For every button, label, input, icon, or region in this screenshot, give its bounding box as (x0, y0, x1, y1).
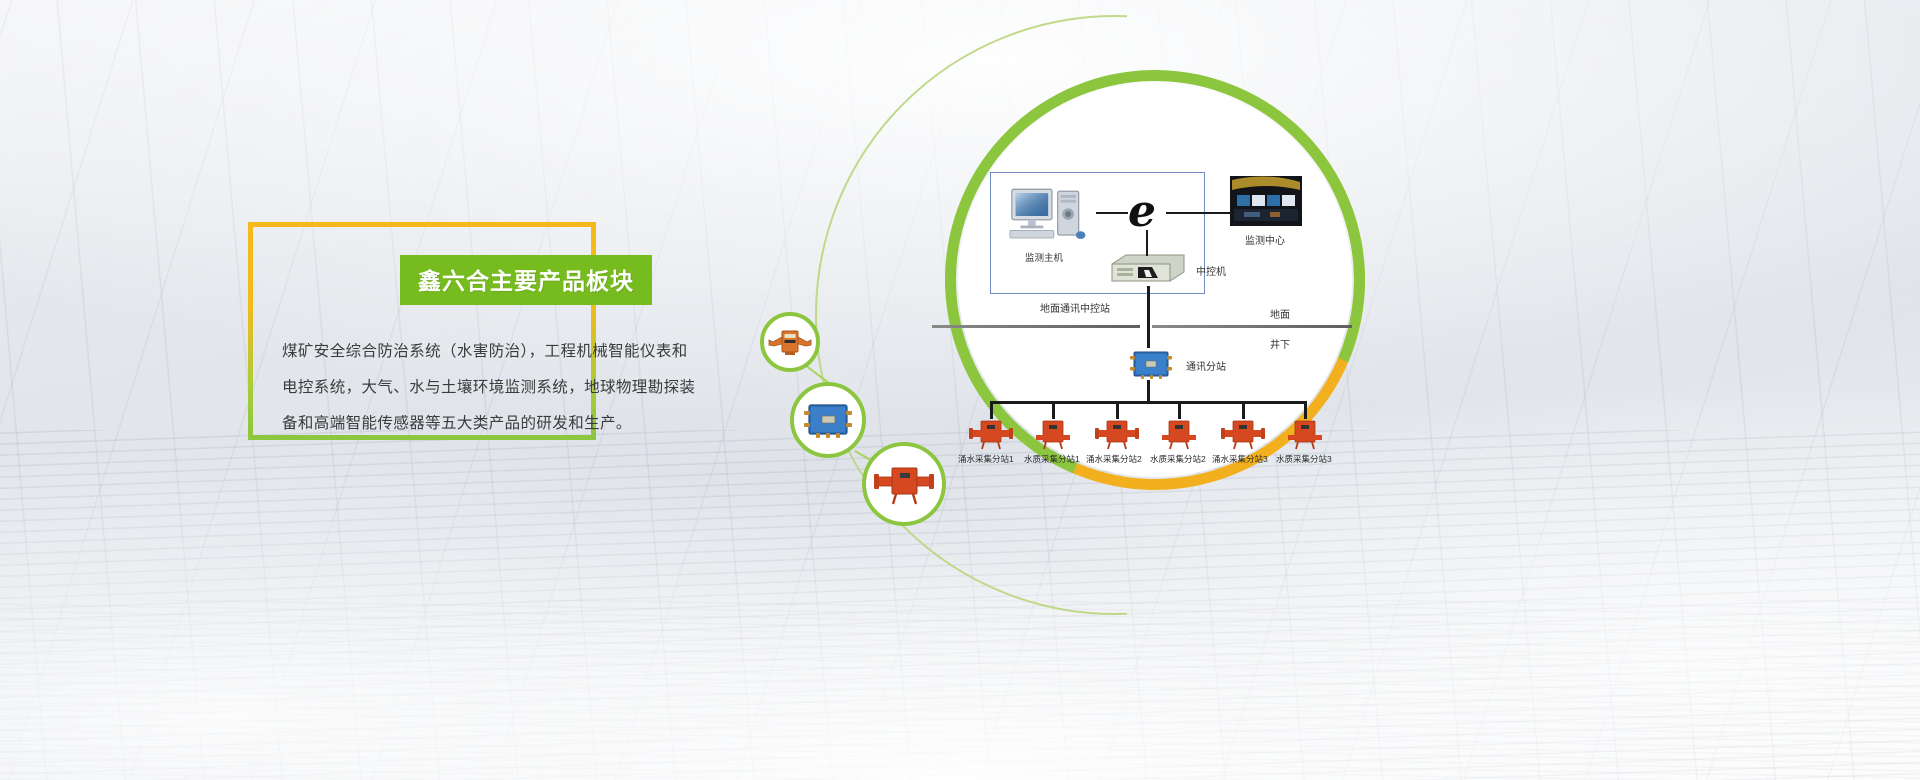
product-bubble-orange-sensor[interactable] (760, 312, 820, 372)
description-line-2: 电控系统，大气、水与土壤环境监测系统，地球物理勘探装 (282, 370, 712, 406)
collection-station-icon-1 (968, 418, 1014, 450)
collection-station-icon-3 (1094, 418, 1140, 450)
wire-host-to-internet (1096, 212, 1128, 214)
label-surface: 地面 (1270, 306, 1290, 321)
description-line-3: 备和高端智能传感器等五大类产品的研发和生产。 (282, 406, 712, 442)
label-controller: 中控机 (1196, 263, 1226, 278)
label-monitoring-host: 监测主机 (1025, 250, 1063, 264)
background-horizon-lines-fine (0, 600, 1920, 780)
wire-drop-3 (1116, 401, 1119, 419)
station-label-1: 涌水采集分站1 (958, 453, 1014, 465)
orange-sensor-device-icon (767, 327, 813, 357)
description-text: 煤矿安全综合防治系统（水害防治），工程机械智能仪表和 电控系统，大气、水与土壤环… (282, 334, 712, 442)
system-diagram: 监测主机 e 中控机 监测中心 (900, 150, 1400, 490)
wire-bus-horizontal (990, 401, 1306, 404)
collection-station-icon-6 (1282, 418, 1328, 450)
wire-drop-4 (1178, 401, 1181, 419)
page-title: 鑫六合主要产品板块 (400, 255, 652, 305)
collection-station-icon-2 (1030, 418, 1076, 450)
label-surface-control-station: 地面通讯中控站 (1040, 300, 1110, 315)
wire-internet-to-center (1166, 212, 1232, 214)
monitoring-center-icon (1230, 176, 1302, 226)
label-monitoring-center: 监测中心 (1245, 232, 1285, 247)
description-line-1: 煤矿安全综合防治系统（水害防治），工程机械智能仪表和 (282, 334, 712, 370)
ground-line-left (932, 325, 1140, 328)
wire-drop-1 (990, 401, 993, 419)
label-communication-substation: 通讯分站 (1186, 358, 1226, 373)
communication-substation-icon (1127, 348, 1175, 380)
station-label-5: 涌水采集分站3 (1212, 453, 1268, 465)
station-label-2: 水质采集分站1 (1024, 453, 1080, 465)
ground-line-right (1152, 325, 1352, 328)
label-underground: 井下 (1270, 336, 1290, 351)
central-controller-icon (1108, 252, 1188, 286)
wire-drop-2 (1052, 401, 1055, 419)
collection-station-icon-4 (1156, 418, 1202, 450)
monitoring-host-icon (1008, 185, 1094, 247)
wire-drop-6 (1304, 401, 1307, 419)
station-label-6: 水质采集分站3 (1276, 453, 1332, 465)
wire-substation-down (1147, 380, 1150, 402)
blue-junction-box-icon (800, 400, 856, 440)
collection-station-icon-5 (1220, 418, 1266, 450)
internet-icon: e (1128, 192, 1168, 234)
wire-drop-5 (1242, 401, 1245, 419)
station-label-3: 涌水采集分站2 (1086, 453, 1142, 465)
station-label-4: 水质采集分站2 (1150, 453, 1206, 465)
wire-trunk-vertical (1147, 286, 1150, 348)
hero-banner: 鑫六合主要产品板块 煤矿安全综合防治系统（水害防治），工程机械智能仪表和 电控系… (0, 0, 1920, 780)
product-bubble-blue-junction-box[interactable] (790, 382, 866, 458)
wire-internet-to-controller (1146, 230, 1148, 256)
